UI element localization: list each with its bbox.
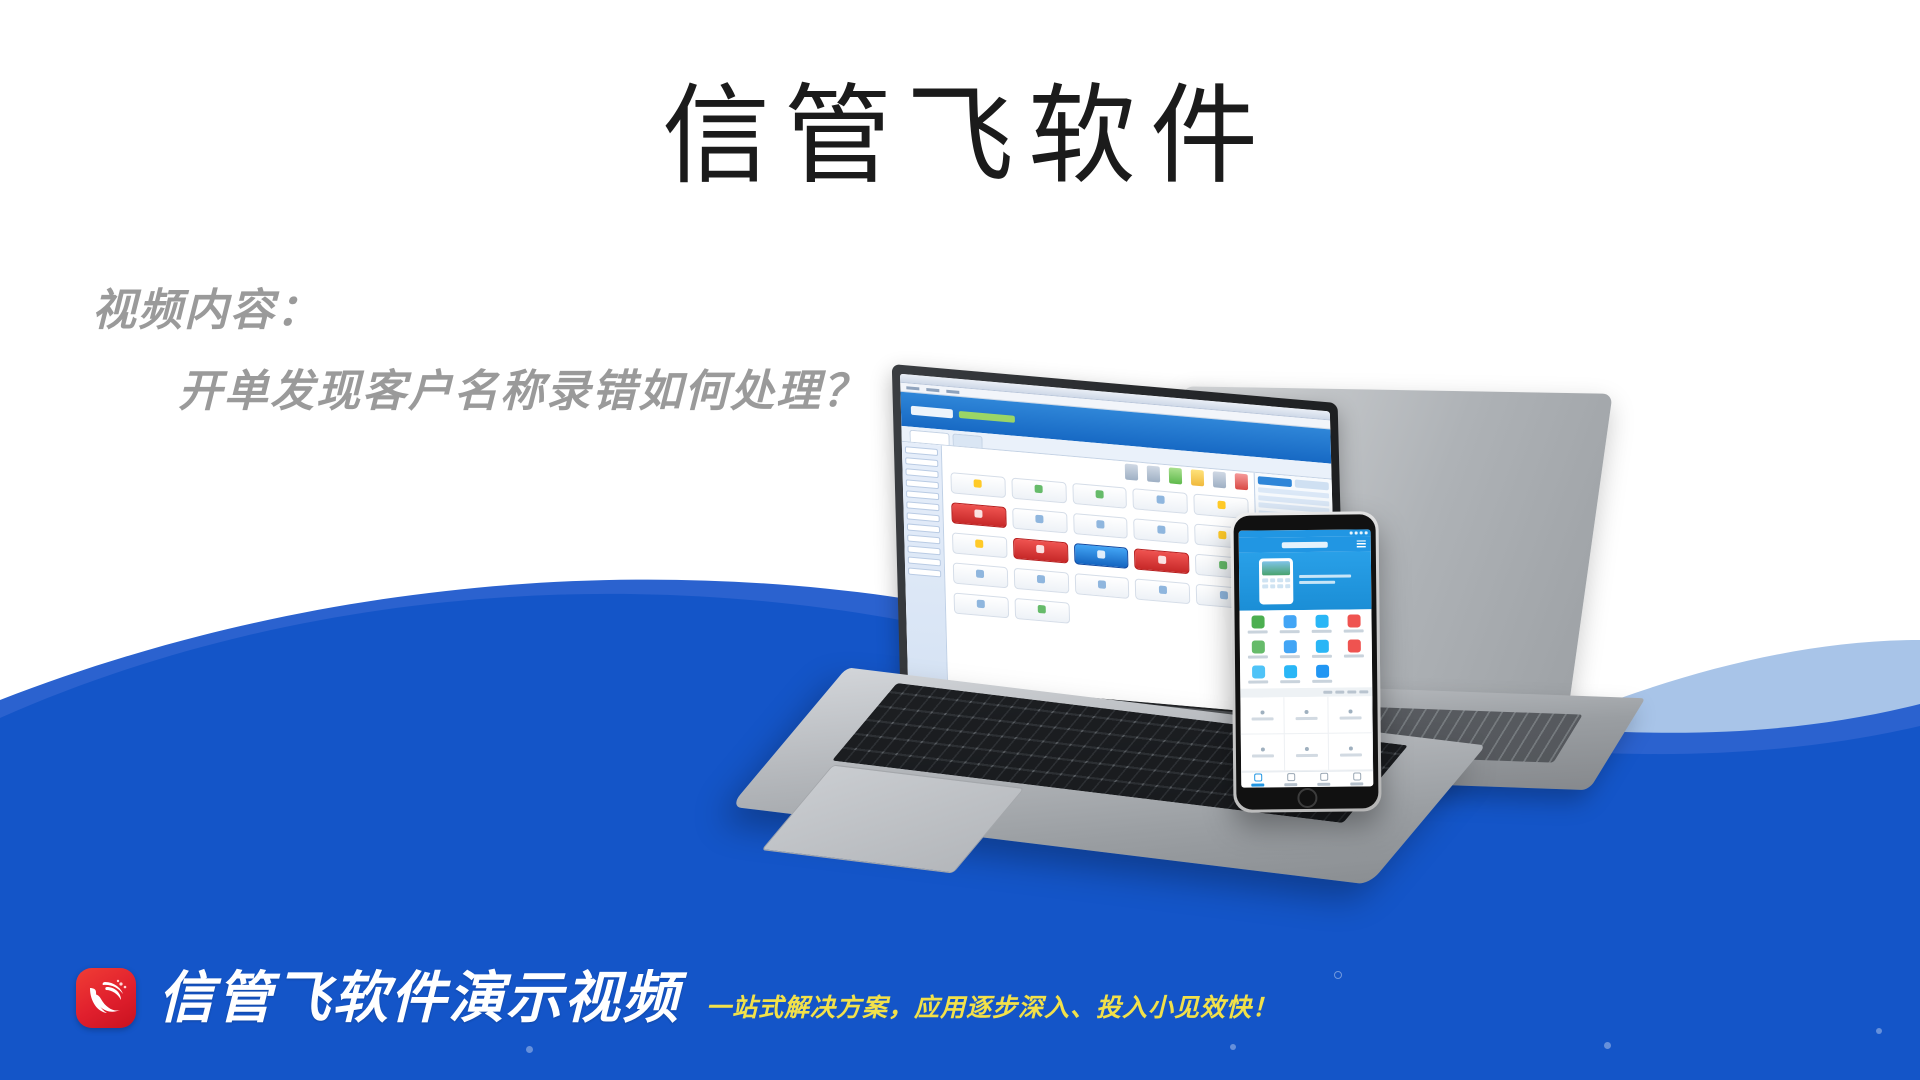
feature-icon: [1251, 615, 1264, 628]
tab-profile[interactable]: [1340, 771, 1373, 786]
phone-stats-grid: [1240, 696, 1373, 771]
presentation-slide: 信管飞软件 视频内容： 开单发现客户名称录错如何处理？: [0, 0, 1920, 1080]
keypad-key: [1277, 578, 1283, 582]
sidebar-item: [908, 556, 941, 566]
menu-item: [946, 389, 959, 393]
phone-feature-item[interactable]: [1275, 665, 1305, 683]
right-panel-tab: [1258, 476, 1292, 487]
sidebar-item: [905, 446, 938, 456]
feature-label: [1248, 655, 1268, 658]
phone-hero-text: [1299, 575, 1351, 588]
app-icon: [950, 472, 1005, 498]
phone-feature-item[interactable]: [1243, 615, 1273, 633]
stat-label: [1339, 716, 1361, 719]
wifi-icon: [1355, 531, 1358, 534]
app-sidebar: [902, 442, 948, 685]
feature-label: [1280, 680, 1300, 683]
phone-feature-grid: [1239, 609, 1372, 688]
feature-icon: [1284, 665, 1297, 678]
stat-label: [1295, 754, 1317, 757]
slide-body-copy: 视频内容： 开单发现客户名称录错如何处理？: [92, 283, 868, 419]
phone-feature-item[interactable]: [1339, 639, 1369, 657]
stat-cell: [1329, 733, 1373, 770]
menu-item: [926, 388, 939, 392]
keypad-key: [1262, 584, 1268, 588]
phone-feature-item[interactable]: [1275, 615, 1305, 633]
stat-value: [1304, 710, 1308, 714]
phone-feature-item[interactable]: [1243, 665, 1273, 683]
app-icon: [952, 532, 1007, 558]
stat-cell: [1240, 697, 1284, 734]
feature-label: [1248, 630, 1268, 633]
app-icon: [1133, 488, 1188, 514]
sidebar-item: [907, 512, 940, 522]
feature-icon: [1252, 665, 1265, 678]
body-question: 开单发现客户名称录错如何处理？: [178, 364, 868, 419]
app-icon: [954, 593, 1009, 619]
logo-glyph: [76, 968, 136, 1028]
feature-icon: [1283, 615, 1296, 628]
stat-cell: [1328, 696, 1372, 733]
hero-text-line: [1299, 575, 1351, 579]
feature-label: [1312, 655, 1332, 658]
app-icon: [1012, 508, 1067, 534]
phone-screen: [1239, 529, 1374, 787]
app-icon: [1014, 598, 1069, 624]
toolbar-icon: [1147, 465, 1160, 482]
toolbar-icon: [1191, 469, 1204, 486]
toolbar-icon: [1169, 467, 1182, 484]
toolbar-icon: [1235, 473, 1248, 490]
stat-value: [1304, 747, 1308, 751]
filter-option[interactable]: [1323, 691, 1332, 694]
toolbar-icon: [1213, 471, 1226, 488]
phone-home-button[interactable]: [1297, 788, 1317, 808]
app-icon: [1074, 543, 1129, 569]
sidebar-item: [906, 490, 939, 500]
keypad-key: [1285, 578, 1291, 582]
stat-label: [1251, 717, 1273, 720]
feature-icon: [1316, 665, 1329, 678]
app-icon-grid: [950, 472, 1252, 640]
app-icon: [951, 502, 1006, 528]
app-icon: [1074, 573, 1129, 599]
feature-icon: [1315, 615, 1328, 628]
menu-item: [906, 386, 919, 390]
toolbar-icon: [1125, 463, 1138, 480]
app-icon-workspace: [942, 445, 1260, 712]
tab-reports[interactable]: [1307, 772, 1340, 787]
app-icon: [1135, 578, 1190, 604]
sidebar-item: [905, 468, 938, 478]
hero-image: [1262, 561, 1290, 575]
device-composition: [880, 390, 1920, 950]
decorative-dot: [526, 1046, 533, 1053]
slide-title: 信管飞软件: [0, 76, 1920, 200]
filter-option[interactable]: [1335, 691, 1344, 694]
app-icon: [1073, 513, 1128, 539]
feature-label: [1344, 629, 1364, 632]
phone-feature-item[interactable]: [1275, 640, 1305, 658]
app-icon: [1014, 568, 1069, 594]
phone-hero-banner: [1239, 551, 1372, 610]
flying-bird-logo-icon: [76, 968, 136, 1028]
person-icon: [1353, 773, 1361, 781]
brand-tagline: 一站式解决方案，应用逐步深入、投入小见效快！: [706, 988, 1278, 1024]
stat-cell: [1284, 697, 1328, 734]
phone-tab-bar: [1241, 770, 1373, 787]
feature-icon: [1251, 640, 1264, 653]
phone-feature-item[interactable]: [1307, 615, 1337, 633]
phone-app-title: [1282, 541, 1328, 547]
sidebar-item: [908, 568, 941, 578]
phone-feature-item[interactable]: [1307, 665, 1337, 683]
hero-text-line: [1299, 581, 1335, 584]
document-icon: [1287, 773, 1295, 781]
home-icon: [1254, 774, 1262, 782]
feature-label: [1312, 680, 1332, 683]
stat-value: [1260, 710, 1264, 714]
tab-label: [1317, 783, 1330, 786]
stat-value: [1260, 747, 1264, 751]
phone-hero-device-mock: [1259, 558, 1293, 604]
tab-label: [1284, 783, 1297, 786]
feature-icon: [1347, 614, 1360, 627]
decorative-dot: [1230, 1044, 1236, 1050]
tab-home[interactable]: [1241, 772, 1274, 787]
feature-label: [1344, 654, 1364, 657]
keypad-key: [1277, 584, 1283, 588]
smartphone-with-mobile-app: [1230, 511, 1381, 813]
tab-label: [1251, 784, 1264, 787]
app-icon: [953, 562, 1008, 588]
filter-option[interactable]: [1359, 690, 1368, 693]
decorative-dot: [1334, 971, 1342, 979]
stat-label: [1251, 754, 1273, 757]
phone-feature-item[interactable]: [1339, 614, 1369, 632]
chart-icon: [1320, 773, 1328, 781]
app-icon: [1072, 483, 1127, 509]
tab-documents[interactable]: [1274, 772, 1307, 787]
sidebar-item: [906, 501, 939, 511]
phone-bezel: [1233, 514, 1378, 809]
filter-option[interactable]: [1347, 690, 1356, 693]
feature-label: [1312, 630, 1332, 633]
decorative-dot: [1604, 1042, 1611, 1049]
keypad-key: [1270, 578, 1276, 582]
feature-label: [1280, 630, 1300, 633]
sidebar-item: [906, 479, 939, 489]
app-brand-subtext: [959, 410, 1015, 422]
stat-label: [1339, 753, 1361, 756]
hero-keypad: [1262, 578, 1290, 588]
battery-icon: [1365, 531, 1368, 534]
feature-icon: [1315, 640, 1328, 653]
feature-label: [1248, 680, 1268, 683]
stat-cell: [1241, 734, 1285, 771]
keypad-key: [1270, 584, 1276, 588]
stat-value: [1348, 710, 1352, 714]
feature-icon: [1347, 639, 1360, 652]
app-brand-mark: [911, 405, 953, 418]
phone-feature-item[interactable]: [1243, 640, 1273, 658]
sidebar-item: [905, 457, 938, 467]
sidebar-item: [907, 534, 940, 544]
keypad-key: [1285, 584, 1291, 588]
sidebar-item: [907, 523, 940, 533]
sidebar-item: [907, 545, 940, 555]
app-icon: [1134, 548, 1189, 574]
signal-icon: [1360, 531, 1363, 534]
app-icon: [1011, 478, 1066, 504]
brand-bar: 信管飞软件演示视频 一站式解决方案，应用逐步深入、投入小见效快！: [76, 968, 1278, 1028]
feature-label: [1280, 655, 1300, 658]
phone-feature-item[interactable]: [1307, 640, 1337, 658]
keypad-key: [1262, 578, 1268, 582]
app-icon: [1134, 518, 1189, 544]
phone-app-header: [1239, 536, 1371, 552]
hamburger-menu-icon[interactable]: [1357, 540, 1366, 547]
right-panel-tab: [1295, 479, 1329, 490]
decorative-dot: [1876, 1028, 1882, 1034]
brand-name: 信管飞软件演示视频: [158, 970, 680, 1026]
stat-cell: [1285, 734, 1329, 771]
bluetooth-icon: [1350, 532, 1353, 535]
feature-icon: [1283, 640, 1296, 653]
tab-label: [1350, 783, 1363, 786]
stat-label: [1295, 717, 1317, 720]
app-icon: [1013, 538, 1068, 564]
body-label: 视频内容：: [92, 283, 868, 338]
stat-value: [1348, 747, 1352, 751]
